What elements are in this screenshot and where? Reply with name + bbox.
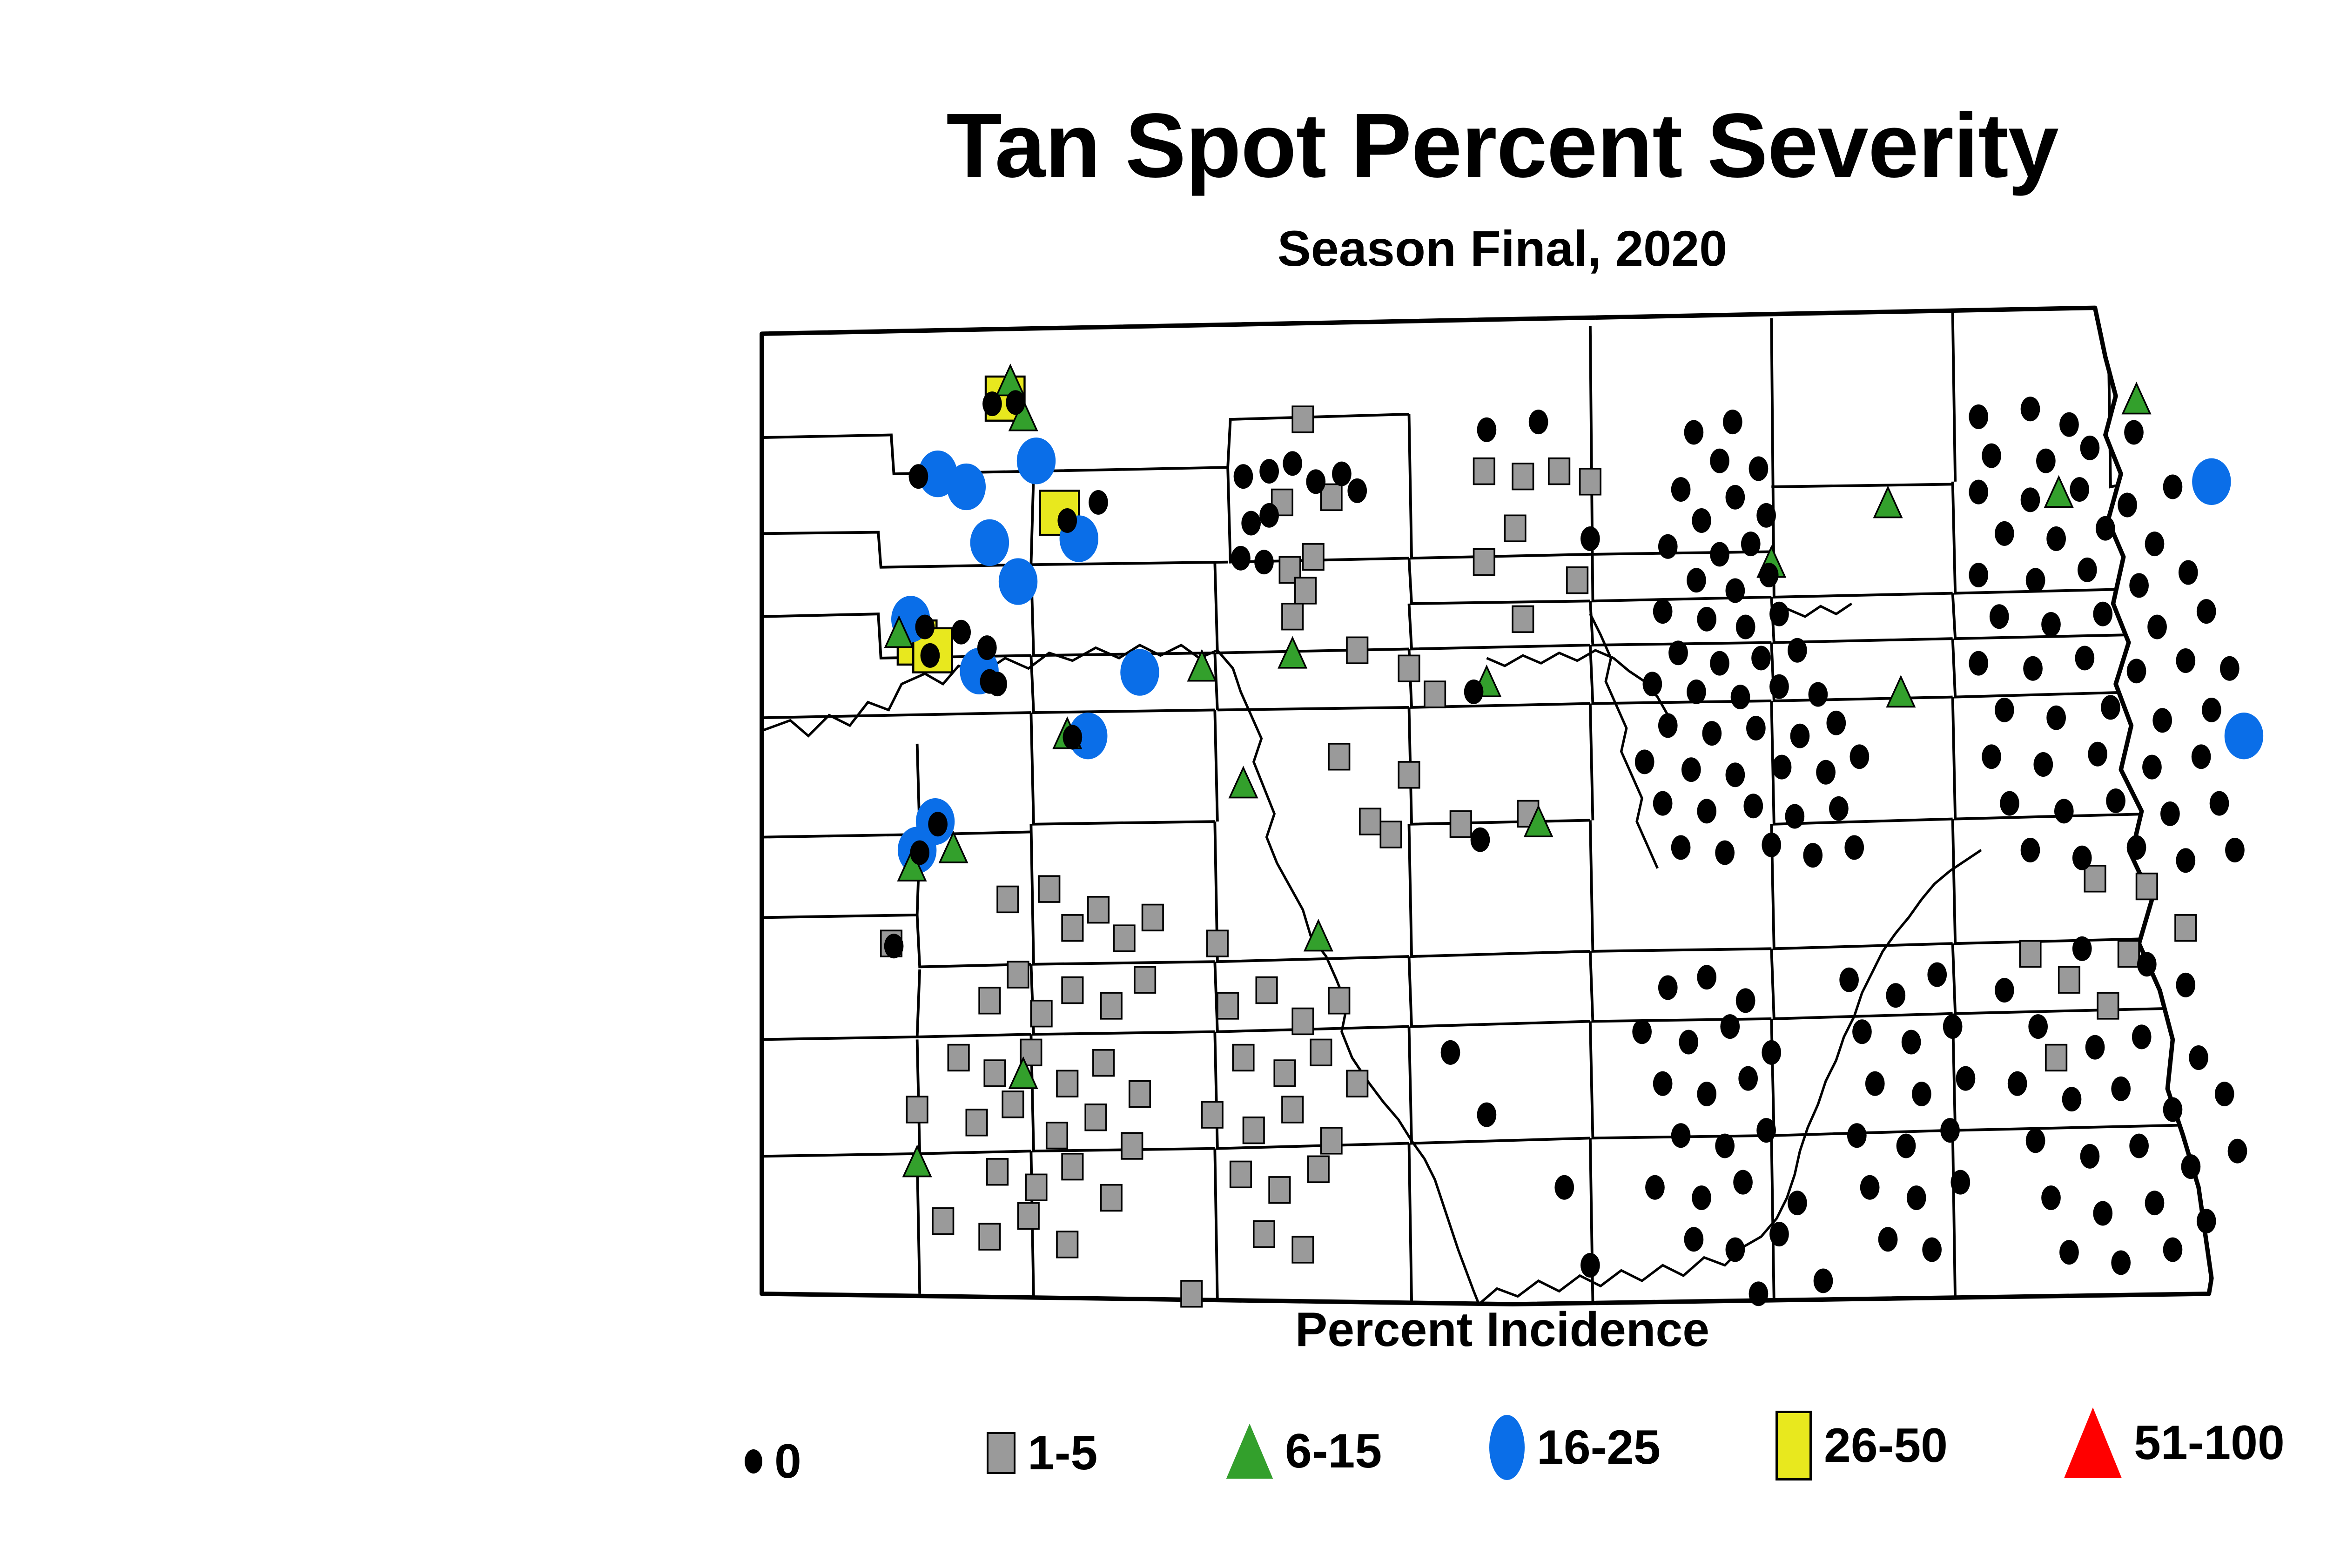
map-marker [977, 635, 997, 660]
map-marker [1202, 1102, 1223, 1128]
map-marker [1982, 744, 2001, 769]
map-marker [1464, 680, 1484, 704]
legend-label-5: 51-100 [2134, 1415, 2285, 1471]
map-marker [1769, 602, 1789, 626]
map-marker [2072, 846, 2092, 870]
map-marker [1814, 1268, 1833, 1293]
map-marker [1303, 544, 1324, 570]
map-marker [2080, 436, 2100, 460]
map-marker [1306, 469, 1325, 494]
map-marker [921, 643, 940, 668]
map-marker [1062, 977, 1083, 1003]
legend-label-3: 16-25 [1537, 1420, 1661, 1475]
legend-label-4: 26-50 [1824, 1418, 1948, 1474]
map-marker [2228, 1139, 2247, 1164]
map-marker [1715, 1134, 1735, 1158]
map-marker [2220, 656, 2240, 681]
map-svg [684, 279, 2327, 1317]
map-marker [2096, 516, 2115, 541]
map-marker [2059, 1240, 2079, 1265]
map-marker [1671, 1123, 1691, 1148]
map-marker [1474, 458, 1495, 485]
map-marker [1244, 1117, 1264, 1144]
map-marker [1399, 655, 1419, 681]
map-marker [997, 887, 1018, 913]
legend-item-0[interactable]: 0 [745, 1424, 801, 1499]
map-marker [1122, 1133, 1143, 1159]
map-marker [2175, 915, 2196, 941]
map-marker [1710, 449, 1729, 473]
map-marker [1653, 599, 1673, 624]
map-marker [1026, 1174, 1047, 1200]
map-marker [1671, 477, 1691, 502]
map-marker [1943, 1014, 1963, 1039]
map-marker [1513, 464, 1533, 490]
map-marker [966, 1110, 987, 1136]
map-marker [1743, 794, 1763, 818]
map-marker [1897, 1134, 1916, 1158]
map-marker [1697, 799, 1716, 823]
map-marker [2000, 791, 2019, 816]
map-marker [1788, 638, 1807, 663]
map-marker [910, 841, 929, 865]
map-marker [1790, 724, 1810, 748]
map-marker [2036, 449, 2056, 473]
map-marker [1549, 458, 1570, 485]
map-marker [1282, 604, 1303, 630]
map-marker [1057, 1232, 1078, 1258]
map-marker [1710, 542, 1729, 566]
map-marker [1047, 1123, 1068, 1149]
map-marker [1085, 1104, 1106, 1131]
map-marker [1135, 967, 1156, 993]
map-marker [2046, 526, 2066, 551]
map-marker [1982, 444, 2001, 468]
map-marker [1860, 1175, 1880, 1200]
map-marker [947, 464, 986, 510]
map-marker [1269, 1177, 1290, 1203]
map-marker [1292, 406, 1313, 432]
map-marker [1788, 1191, 1807, 1215]
map-marker [2072, 936, 2092, 961]
map-marker [2123, 384, 2150, 413]
map-marker [1018, 1203, 1039, 1229]
map-marker [1762, 833, 1781, 857]
map-marker [1308, 1156, 1329, 1182]
map-marker [1380, 821, 1401, 848]
square-gray-icon [987, 1432, 1016, 1474]
map-marker [1746, 716, 1766, 740]
map-marker [2093, 1201, 2112, 1226]
map-marker [1274, 1060, 1295, 1086]
map-marker [2210, 791, 2229, 816]
map-marker [2181, 1154, 2201, 1179]
legend-item-2[interactable]: 6-15 [1226, 1414, 1382, 1488]
map-marker [1089, 490, 1108, 515]
map-marker [1505, 515, 1526, 541]
map-marker [1554, 1175, 1574, 1200]
legend-item-4[interactable]: 26-50 [1776, 1408, 1948, 1483]
map-marker [1008, 962, 1029, 988]
map-marker [1785, 804, 1804, 829]
map-marker [2127, 659, 2146, 683]
map-marker [2023, 656, 2043, 681]
map-marker [1425, 681, 1446, 707]
map-marker [1101, 993, 1122, 1019]
map-marker [1477, 1103, 1497, 1127]
map-marker [1580, 526, 1600, 551]
map-marker [1738, 1066, 1758, 1091]
map-marker [1114, 925, 1135, 951]
map-marker [2028, 1014, 2048, 1039]
legend-title: Percent Incidence [0, 1306, 2327, 1354]
page-subtitle: Season Final, 2020 [0, 223, 2327, 274]
map-marker [987, 1159, 1008, 1185]
map-marker [2020, 941, 2041, 967]
map-marker [2026, 1128, 2045, 1153]
map-marker [1829, 796, 1849, 821]
map-marker [1731, 685, 1750, 709]
map-marker [1063, 725, 1083, 750]
map-marker [1006, 390, 1025, 415]
map-marker [2142, 755, 2162, 780]
map-marker [1679, 1030, 1698, 1055]
map-marker [2137, 874, 2158, 900]
map-marker [907, 1097, 928, 1123]
map-marker [2021, 397, 2040, 421]
map-marker [1720, 1014, 1740, 1039]
map-marker [2225, 713, 2263, 759]
map-marker [1749, 1281, 1769, 1306]
map-marker [1912, 1082, 1931, 1106]
map-marker [2075, 646, 2094, 670]
map-marker [1759, 563, 1779, 587]
map-marker [2119, 941, 2139, 967]
map-marker [1710, 651, 1729, 676]
map-marker [1130, 1081, 1150, 1107]
map-marker [2021, 838, 2040, 862]
circle-black-icon [745, 1449, 762, 1474]
map-marker [1017, 437, 1056, 484]
map-marker [2106, 788, 2125, 813]
map-marker [1120, 649, 1159, 695]
map-marker [933, 1208, 954, 1234]
map-marker [1772, 755, 1792, 780]
map-marker [1809, 682, 1828, 707]
map-marker [2101, 695, 2120, 720]
map-marker [2078, 558, 2097, 582]
legend-item-5[interactable]: 51-100 [2064, 1406, 2285, 1480]
map-marker [1360, 808, 1381, 834]
map-marker [1668, 640, 1688, 665]
map-marker [988, 672, 1007, 696]
map-marker [2132, 1024, 2152, 1049]
map-marker [2147, 615, 2167, 639]
map-marker [1292, 1237, 1313, 1263]
map-marker [1969, 563, 1988, 587]
map-marker [2088, 742, 2107, 767]
map-marker [1645, 1175, 1665, 1200]
map-marker [1062, 1154, 1083, 1180]
map-marker [1847, 1123, 1867, 1148]
map-marker [1234, 464, 1253, 489]
map-marker [1749, 456, 1769, 481]
map-marker [2129, 573, 2149, 598]
map-marker [2041, 1185, 2061, 1210]
map-marker [1259, 503, 1279, 528]
map-marker [1697, 965, 1716, 989]
map-marker [1826, 711, 1846, 735]
map-marker [1471, 828, 1490, 852]
map-marker [1311, 1039, 1332, 1065]
map-marker [1399, 762, 1419, 788]
map-marker [1927, 962, 1947, 987]
map-marker [2176, 848, 2195, 873]
map-marker [1233, 1045, 1254, 1071]
map-marker [1039, 876, 1060, 902]
map-marker [1292, 1009, 1313, 1035]
map-marker [1643, 672, 1662, 696]
map-marker [1658, 713, 1678, 738]
map-marker [1259, 459, 1279, 484]
legend-label-0: 0 [774, 1434, 801, 1489]
map-marker [1756, 1118, 1776, 1143]
map-marker [1513, 606, 1533, 632]
map-marker [1231, 546, 1251, 571]
circle-blue-icon [1489, 1415, 1525, 1480]
map-marker [1088, 897, 1109, 923]
map-marker [1907, 1185, 1926, 1210]
map-marker [2118, 493, 2137, 518]
map-marker [1347, 637, 1368, 663]
map-marker [1057, 508, 1077, 533]
map-marker [1295, 578, 1316, 604]
map-marker [1002, 1091, 1023, 1117]
map-marker [1321, 484, 1342, 510]
map-marker [1093, 1050, 1114, 1076]
map-marker [1751, 646, 1771, 670]
map-marker [2080, 1144, 2100, 1169]
map-marker [1723, 410, 1742, 434]
map-marker [979, 1224, 1000, 1250]
map-marker [1922, 1238, 1942, 1262]
map-marker [1347, 1070, 1368, 1097]
map-marker [2192, 744, 2211, 769]
legend-label-2: 6-15 [1285, 1424, 1382, 1479]
map-marker [1702, 721, 1722, 746]
map-marker [984, 1060, 1005, 1086]
map-marker [2163, 1238, 2183, 1262]
map-marker [2129, 1134, 2149, 1158]
north-dakota-map [684, 279, 2327, 1317]
map-marker [1062, 915, 1083, 941]
map-marker [2192, 458, 2231, 505]
triangle-green-icon [1226, 1424, 1273, 1479]
map-marker [1736, 988, 1755, 1013]
map-marker [2098, 993, 2119, 1019]
map-marker [1697, 1082, 1716, 1106]
map-marker [1844, 835, 1864, 860]
map-marker [1332, 462, 1352, 486]
map-marker [1321, 1128, 1342, 1154]
map-marker [1256, 977, 1277, 1003]
map-marker [1143, 905, 1163, 931]
map-marker [1329, 744, 1350, 770]
map-marker [970, 519, 1009, 566]
map-marker [1950, 1170, 1970, 1195]
map-marker [1181, 1281, 1202, 1307]
map-marker [2145, 532, 2165, 556]
map-marker [2021, 487, 2040, 512]
map-marker [1580, 1253, 1600, 1278]
map-marker [2202, 698, 2221, 722]
map-marker [2046, 706, 2066, 730]
map-marker [2008, 1071, 2027, 1096]
map-marker [1347, 478, 1367, 503]
map-marker [2059, 967, 2080, 993]
map-marker [1886, 983, 1905, 1008]
map-marker [2033, 752, 2053, 777]
map-marker [1715, 841, 1735, 865]
page-title: Tan Spot Percent Severity [0, 100, 2327, 191]
map-marker [2059, 412, 2079, 437]
map-marker [1477, 417, 1497, 442]
map-marker [2085, 866, 2105, 892]
map-marker [2041, 612, 2061, 637]
map-marker [2137, 952, 2157, 976]
map-marker [2152, 708, 2172, 733]
map-marker [2197, 599, 2216, 624]
map-marker [1687, 680, 1706, 704]
legend-item-3[interactable]: 16-25 [1489, 1410, 1661, 1485]
map-marker [1756, 503, 1776, 528]
map-marker [1736, 615, 1755, 639]
map-marker [1580, 469, 1601, 495]
map-marker [1902, 1030, 1921, 1055]
map-marker [2062, 1087, 2082, 1111]
map-marker [1995, 698, 2014, 722]
map-marker [1632, 1019, 1652, 1044]
map-marker [1451, 811, 1472, 837]
map-marker [1217, 993, 1238, 1019]
map-marker [1969, 651, 1988, 676]
map-marker [2145, 1191, 2165, 1215]
map-marker [1241, 511, 1261, 536]
map-marker [1741, 532, 1761, 556]
map-marker [2111, 1077, 2131, 1101]
map-marker [1687, 568, 1706, 592]
map-marker [1653, 791, 1673, 816]
map-marker [2111, 1250, 2131, 1275]
map-marker [1850, 744, 1870, 769]
map-marker [951, 620, 971, 645]
map-marker [1567, 567, 1588, 593]
map-marker [1769, 1222, 1789, 1246]
map-marker [2127, 835, 2146, 860]
map-marker [1762, 1040, 1781, 1065]
map-marker [1635, 749, 1654, 774]
map-marker [1254, 550, 1274, 574]
map-marker [1329, 988, 1350, 1014]
map-marker [915, 615, 935, 639]
map-marker [1658, 534, 1678, 559]
map-marker [2163, 475, 2183, 499]
map-marker [1671, 835, 1691, 860]
map-marker [1441, 1040, 1460, 1065]
map-marker [1254, 1221, 1275, 1247]
map-marker [1474, 549, 1495, 575]
map-marker [1231, 1162, 1251, 1188]
map-marker [1692, 508, 1711, 533]
map-marker [1207, 930, 1228, 956]
map-marker [1101, 1185, 1122, 1211]
map-marker [909, 464, 928, 489]
map-marker [1956, 1066, 1976, 1091]
map-marker [999, 558, 1037, 605]
map-marker [1995, 521, 2014, 546]
map-marker [1969, 480, 1988, 505]
map-marker [1282, 1097, 1303, 1123]
map-marker [1692, 1185, 1711, 1210]
legend-item-1[interactable]: 1-5 [987, 1416, 1097, 1490]
map-marker [1733, 1170, 1753, 1195]
map-marker [1031, 1001, 1052, 1027]
legend: 0 1-5 6-15 16-25 26-50 51-100 [745, 1410, 2327, 1499]
map-marker [1865, 1071, 1885, 1096]
map-marker [1803, 843, 1823, 868]
map-marker [1658, 975, 1678, 1000]
map-marker [1940, 1118, 1960, 1143]
map-marker [1990, 604, 2009, 629]
map-marker [1684, 1227, 1704, 1252]
map-marker [1816, 760, 1836, 785]
map-marker [884, 934, 904, 958]
triangle-red-icon [2064, 1407, 2122, 1478]
map-marker [1684, 420, 1704, 444]
map-marker [2124, 420, 2144, 444]
map-marker [1995, 978, 2014, 1003]
map-marker [1769, 674, 1789, 699]
map-marker [1726, 1238, 1745, 1262]
map-marker [928, 812, 948, 836]
map-marker [1726, 579, 1745, 603]
map-marker [1697, 607, 1716, 632]
map-marker [1529, 410, 1548, 434]
map-marker [1681, 757, 1701, 782]
map-marker [2070, 477, 2089, 502]
map-marker [1726, 485, 1745, 510]
map-marker [2179, 560, 2198, 585]
map-marker [982, 391, 1002, 416]
map-marker [2176, 648, 2195, 673]
map-marker [2197, 1209, 2216, 1233]
map-marker [948, 1045, 969, 1071]
map-marker [2085, 1035, 2105, 1060]
map-marker [1852, 1019, 1872, 1044]
map-marker [1969, 404, 1988, 429]
map-marker [1839, 968, 1859, 992]
map-marker [979, 988, 1000, 1014]
map-marker [2189, 1045, 2208, 1070]
map-marker [1726, 762, 1745, 787]
map-marker [2215, 1082, 2234, 1106]
map-marker [2026, 568, 2045, 592]
map-marker [2176, 973, 2195, 997]
map-marker [1283, 451, 1302, 476]
legend-label-1: 1-5 [1028, 1426, 1097, 1481]
map-marker [1057, 1070, 1078, 1097]
map-marker [2054, 799, 2074, 823]
